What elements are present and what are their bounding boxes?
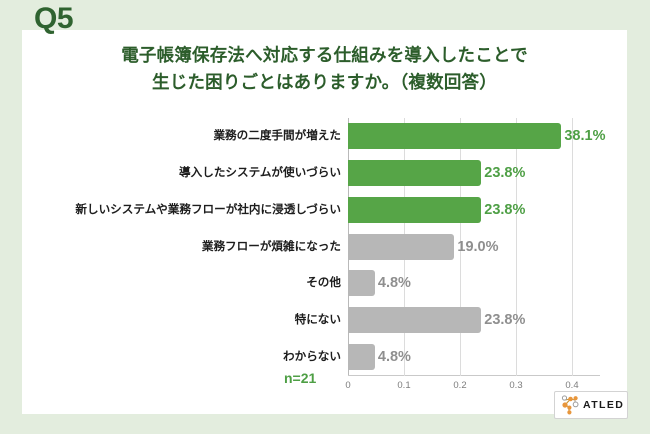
chart-title: 電子帳簿保存法へ対応する仕組みを導入したことで 生じた困りごとはありますか。（複…: [22, 42, 627, 96]
x-axis-tick-label: 0: [345, 380, 350, 391]
chart-title-line-1: 電子帳簿保存法へ対応する仕組みを導入したことで: [22, 42, 627, 69]
bar: [348, 197, 481, 223]
network-dots-icon: [558, 394, 582, 416]
bar: [348, 307, 481, 333]
bar: [348, 270, 375, 296]
bar-value-label: 23.8%: [484, 198, 525, 222]
chart-row: 4.8%その他: [348, 265, 600, 302]
chart-row: 23.8%新しいシステムや業務フローが社内に浸透しづらい: [348, 192, 600, 229]
bar: [348, 123, 561, 149]
chart-title-line-2: 生じた困りごとはありますか。（複数回答）: [22, 69, 627, 96]
x-axis-tick-label: 0.2: [453, 380, 466, 391]
bar: [348, 344, 375, 370]
chart-row: 23.8%特にない: [348, 302, 600, 339]
category-label: 導入したシステムが使いづらい: [179, 162, 341, 184]
x-axis-tick-label: 0.3: [509, 380, 522, 391]
atled-wordmark: ATLED: [583, 399, 624, 411]
bar-chart: 38.1%業務の二度手間が増えた23.8%導入したシステムが使いづらい23.8%…: [22, 112, 627, 414]
category-label: わからない: [283, 346, 341, 368]
sample-size-label: n=21: [284, 370, 316, 386]
bar-value-label: 38.1%: [564, 124, 605, 148]
bar-value-label: 4.8%: [378, 345, 411, 369]
x-axis-tick-label: 0.1: [397, 380, 410, 391]
chart-row: 4.8%わからない: [348, 339, 600, 376]
question-number: Q5: [34, 4, 73, 34]
plot-area: 38.1%業務の二度手間が増えた23.8%導入したシステムが使いづらい23.8%…: [348, 118, 600, 376]
bar-value-label: 23.8%: [484, 308, 525, 332]
chart-row: 19.0%業務フローが煩雑になった: [348, 229, 600, 266]
chart-row: 23.8%導入したシステムが使いづらい: [348, 155, 600, 192]
category-label: 業務の二度手間が増えた: [213, 125, 341, 147]
chart-row: 38.1%業務の二度手間が増えた: [348, 118, 600, 155]
x-axis-tick-label: 0.4: [565, 380, 578, 391]
category-label: 特にない: [295, 309, 341, 331]
bar-value-label: 23.8%: [484, 161, 525, 185]
atled-logo: ATLED: [554, 391, 628, 419]
bar-value-label: 4.8%: [378, 271, 411, 295]
category-label: 新しいシステムや業務フローが社内に浸透しづらい: [75, 199, 341, 221]
category-label: その他: [306, 272, 341, 294]
bar-value-label: 19.0%: [457, 235, 498, 259]
category-label: 業務フローが煩雑になった: [202, 236, 341, 258]
bar: [348, 234, 454, 260]
bar: [348, 160, 481, 186]
